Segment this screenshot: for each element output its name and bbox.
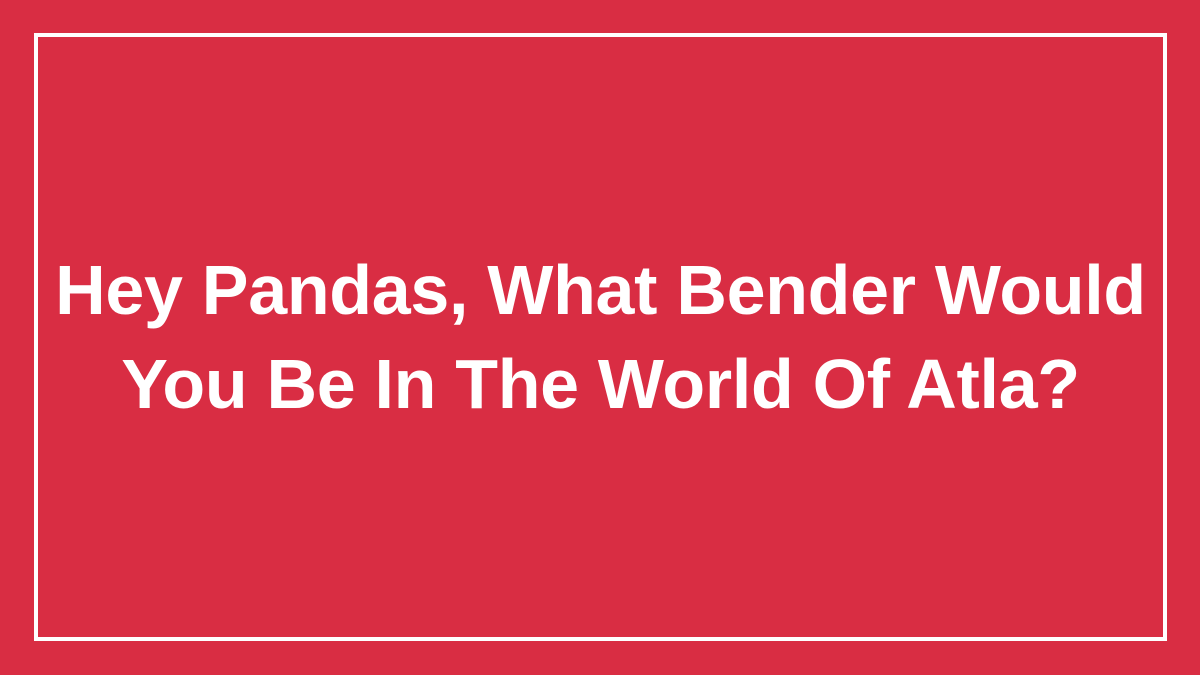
headline-block: Hey Pandas, What Bender Would You Be In … <box>34 33 1167 641</box>
page-title: Hey Pandas, What Bender Would You Be In … <box>55 243 1146 431</box>
headline-line-1: Hey Pandas, What Bender Would <box>55 243 1146 337</box>
poster-canvas: Hey Pandas, What Bender Would You Be In … <box>0 0 1200 675</box>
headline-line-2: You Be In The World Of Atla? <box>55 337 1146 431</box>
